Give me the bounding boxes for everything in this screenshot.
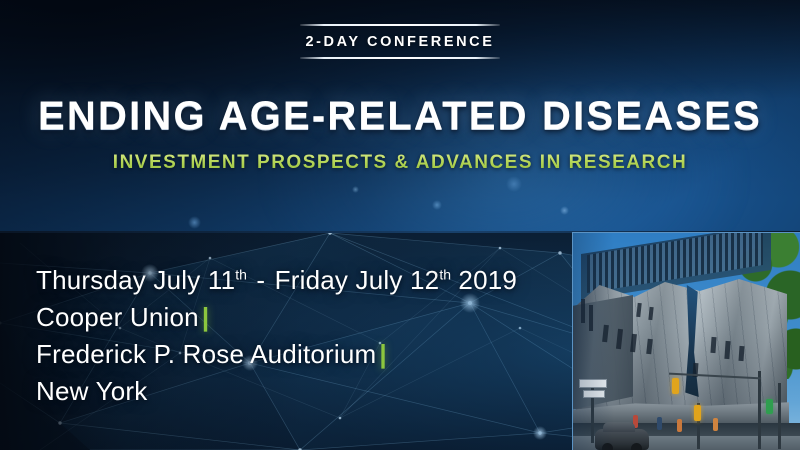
venue-name: Cooper Union: [36, 302, 199, 332]
photo-traffic-pole: [758, 371, 761, 449]
event-venue-line: Cooper Union|: [36, 299, 517, 336]
photo-window-slot: [738, 346, 744, 361]
page-subtitle: INVESTMENT PROSPECTS & ADVANCES IN RESEA…: [0, 152, 800, 174]
hall-separator: |: [376, 339, 386, 369]
date-day-two-ordinal: th: [439, 266, 451, 282]
photo-window-slot: [581, 299, 585, 323]
event-city-line: New York: [36, 373, 517, 410]
photo-car-wheel: [602, 443, 613, 450]
kicker-block: 2-DAY CONFERENCE: [0, 24, 800, 59]
venue-separator: |: [199, 302, 209, 332]
photo-car-wheel: [631, 443, 642, 450]
photo-pedestrian: [713, 418, 718, 431]
event-hall-line: Frederick P. Rose Auditorium|: [36, 336, 517, 373]
event-date-line: Thursday July 11th - Friday July 12th 20…: [36, 262, 517, 299]
photo-parked-car: [595, 429, 649, 450]
photo-traffic-light: [672, 378, 679, 394]
kicker-rule-bottom: [300, 57, 500, 59]
hall-name: Frederick P. Rose Auditorium: [36, 339, 376, 369]
photo-window-slot: [589, 305, 593, 331]
photo-traffic-light: [694, 405, 701, 421]
photo-street-sign: [579, 379, 607, 388]
venue-photo: [572, 232, 800, 450]
date-day-two: Friday July 12: [275, 265, 440, 295]
photo-pedestrian: [677, 419, 682, 432]
event-details: Thursday July 11th - Friday July 12th 20…: [36, 262, 517, 410]
photo-pedestrian: [657, 417, 662, 430]
kicker-label: 2-DAY CONFERENCE: [305, 26, 494, 57]
photo-traffic-light-green: [766, 399, 773, 414]
photo-street-sign: [583, 390, 605, 398]
date-year: 2019: [451, 265, 517, 295]
page-title: ENDING AGE-RELATED DISEASES: [0, 94, 800, 139]
photo-lamp-pole: [778, 383, 781, 449]
date-dash: -: [247, 265, 275, 295]
date-day-one-ordinal: th: [235, 266, 247, 282]
date-day-one: Thursday July 11: [36, 265, 235, 295]
conference-poster: 2-DAY CONFERENCE ENDING AGE-RELATED DISE…: [0, 0, 800, 450]
